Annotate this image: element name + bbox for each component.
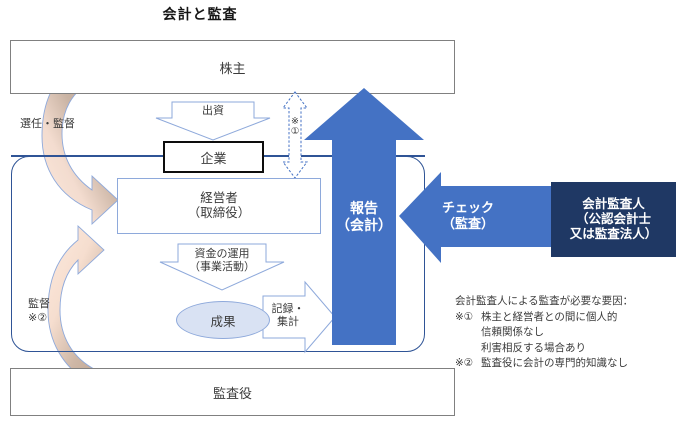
- accounting-auditor-line1: 会計監査人: [582, 197, 645, 212]
- note-mark: ※②: [455, 356, 481, 371]
- report-arrow-label: 報告 （会計）: [333, 200, 395, 234]
- record-aggregate-arrow-label: 記録・ 集計: [266, 303, 310, 328]
- fund-label-line2: （事業活動）: [176, 261, 268, 274]
- accounting-auditor-box: 会計監査人 （公認会計士 又は監査法人）: [551, 182, 676, 257]
- notes-heading: 会計監査人による監査が必要な要因：: [455, 294, 677, 309]
- note1-number: ①: [286, 127, 304, 137]
- accounting-auditor-line2: （公認会計士: [576, 212, 651, 227]
- record-label-line2: 集計: [266, 316, 310, 329]
- supervise-label: 監督 ※②: [28, 297, 84, 326]
- check-arrow-label: チェック （監査）: [432, 200, 504, 231]
- note1-arrow-label: ※ ①: [286, 117, 304, 137]
- note-item: ※① 株主と経営者との間に個人的: [455, 310, 677, 325]
- appoint-supervise-label: 選任・監督: [20, 118, 112, 131]
- supervise-label-line2: ※②: [28, 311, 84, 325]
- note-item: ※② 監査役に会計の専門的知識なし: [455, 356, 677, 371]
- supervise-label-line1: 監督: [28, 297, 84, 311]
- fund-label-line1: 資金の運用: [176, 248, 268, 261]
- note-mark: ※①: [455, 310, 481, 325]
- note-continuation: 利害相反する場合あり: [481, 341, 677, 356]
- notes-block: 会計監査人による監査が必要な要因： ※① 株主と経営者との間に個人的 信頼関係な…: [455, 294, 677, 371]
- check-label-line1: チェック: [432, 200, 504, 216]
- note-continuation: 信頼関係なし: [481, 325, 677, 340]
- record-label-line1: 記録・: [266, 303, 310, 316]
- report-label-line2: （会計）: [333, 217, 395, 234]
- diagram-canvas: 会計と監査 株主: [0, 0, 680, 423]
- check-label-line2: （監査）: [432, 216, 504, 232]
- fund-operation-arrow-label: 資金の運用 （事業活動）: [176, 248, 268, 273]
- investment-arrow-label: 出資: [183, 105, 243, 118]
- note-body: 監査役に会計の専門的知識なし: [481, 356, 677, 371]
- note-body: 株主と経営者との間に個人的: [481, 310, 677, 325]
- accounting-auditor-line3: 又は監査法人）: [570, 227, 658, 242]
- report-label-line1: 報告: [333, 200, 395, 217]
